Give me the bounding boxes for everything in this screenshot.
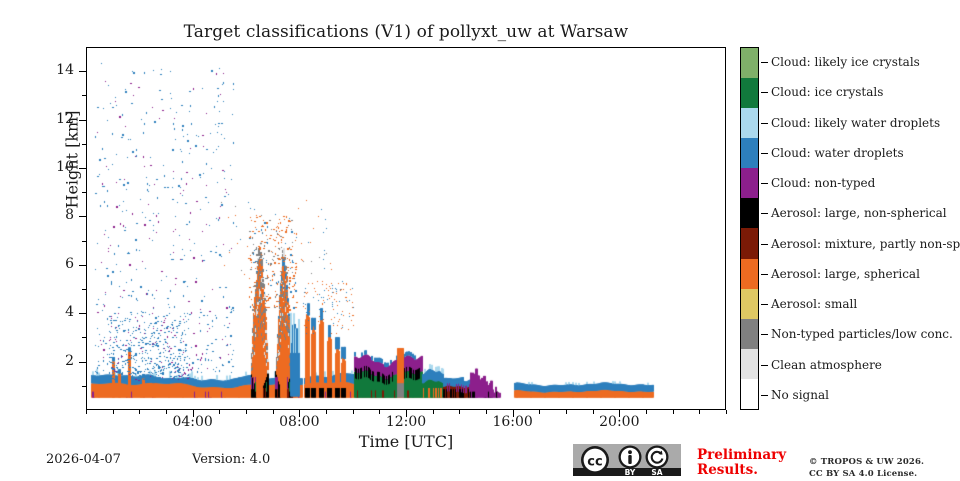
legend-swatch[interactable]	[741, 108, 758, 138]
legend-swatch[interactable]	[741, 168, 758, 198]
target-classification-heatmap[interactable]	[87, 48, 726, 410]
y-tick-label: 2	[34, 353, 74, 369]
preliminary-line-2: Results.	[697, 463, 793, 478]
legend-swatch[interactable]	[741, 48, 758, 78]
y-tick	[79, 265, 86, 266]
legend-label: Clean atmosphere	[771, 358, 882, 372]
license-sa-label: SA	[651, 468, 662, 476]
legend-label: Aerosol: mixture, partly non-spherical	[771, 237, 960, 251]
x-tick	[673, 410, 674, 414]
legend-swatch[interactable]	[741, 289, 758, 319]
legend-label: No signal	[771, 388, 829, 402]
y-tick-label: 8	[34, 207, 74, 223]
y-tick-label: 6	[34, 256, 74, 272]
x-tick	[113, 410, 114, 414]
cc-by-sa-license-icon[interactable]: cc BY SA	[573, 444, 681, 476]
legend-swatch[interactable]	[741, 379, 758, 409]
legend-label: Cloud: likely water droplets	[771, 116, 940, 130]
copyright-note: © TROPOS & UW 2026. CC BY SA 4.0 License…	[809, 456, 924, 481]
x-tick	[353, 410, 354, 414]
svg-text:cc: cc	[587, 455, 602, 470]
x-tick-label: 16:00	[483, 414, 543, 430]
legend-label: Non-typed particles/low conc.	[771, 327, 953, 341]
legend-swatch[interactable]	[741, 198, 758, 228]
x-tick	[699, 410, 700, 414]
preliminary-line-1: Preliminary	[697, 448, 793, 463]
preliminary-results-note: Preliminary Results.	[697, 448, 793, 479]
x-tick	[139, 410, 140, 414]
legend-label: Cloud: likely ice crystals	[771, 55, 920, 69]
x-tick	[566, 410, 567, 414]
copyright-line-1: © TROPOS & UW 2026.	[809, 456, 924, 468]
legend-label: Cloud: ice crystals	[771, 85, 883, 99]
y-tick	[79, 362, 86, 363]
y-tick	[79, 168, 86, 169]
x-tick-label: 20:00	[589, 414, 649, 430]
y-tick-label: 4	[34, 304, 74, 320]
legend-tick	[761, 395, 768, 396]
legend-label: Aerosol: small	[771, 297, 857, 311]
legend-label: Cloud: water droplets	[771, 146, 904, 160]
legend-tick	[761, 123, 768, 124]
y-tick-label: 14	[34, 62, 74, 78]
legend-swatch[interactable]	[741, 78, 758, 108]
legend-tick	[761, 153, 768, 154]
legend-tick	[761, 334, 768, 335]
x-tick	[246, 410, 247, 414]
y-tick	[79, 216, 86, 217]
legend-swatch[interactable]	[741, 319, 758, 349]
x-tick	[539, 410, 540, 414]
legend-label: Aerosol: large, non-spherical	[771, 206, 947, 220]
legend-tick	[761, 304, 768, 305]
x-tick-label: 04:00	[163, 414, 223, 430]
legend-tick	[761, 213, 768, 214]
license-by-label: BY	[625, 468, 636, 476]
figure-root: Target classifications (V1) of pollyxt_u…	[0, 0, 960, 480]
x-tick	[219, 410, 220, 414]
y-tick	[79, 120, 86, 121]
footer-version: Version: 4.0	[192, 452, 270, 467]
footer-date: 2026-04-07	[46, 452, 121, 467]
legend-colorbar	[740, 47, 759, 410]
legend-tick	[761, 274, 768, 275]
y-tick-label: 12	[34, 111, 74, 127]
legend-label: Aerosol: large, spherical	[771, 267, 920, 281]
legend-label: Cloud: non-typed	[771, 176, 875, 190]
y-tick	[79, 313, 86, 314]
legend-tick	[761, 183, 768, 184]
y-tick-label: 10	[34, 159, 74, 175]
legend-swatch[interactable]	[741, 228, 758, 258]
x-tick	[86, 410, 87, 414]
x-tick	[726, 410, 727, 414]
x-tick	[326, 410, 327, 414]
y-tick	[79, 71, 86, 72]
x-tick	[459, 410, 460, 414]
plot-area[interactable]	[86, 47, 726, 410]
x-tick-label: 12:00	[376, 414, 436, 430]
legend-swatch[interactable]	[741, 349, 758, 379]
legend-tick	[761, 62, 768, 63]
page-title: Target classifications (V1) of pollyxt_u…	[86, 22, 726, 42]
x-tick-label: 08:00	[269, 414, 329, 430]
legend-swatch[interactable]	[741, 138, 758, 168]
x-tick	[433, 410, 434, 414]
legend-tick	[761, 92, 768, 93]
copyright-line-2: CC BY SA 4.0 License.	[809, 468, 924, 480]
x-tick	[646, 410, 647, 414]
legend-swatch[interactable]	[741, 259, 758, 289]
legend-tick	[761, 244, 768, 245]
legend-tick	[761, 365, 768, 366]
